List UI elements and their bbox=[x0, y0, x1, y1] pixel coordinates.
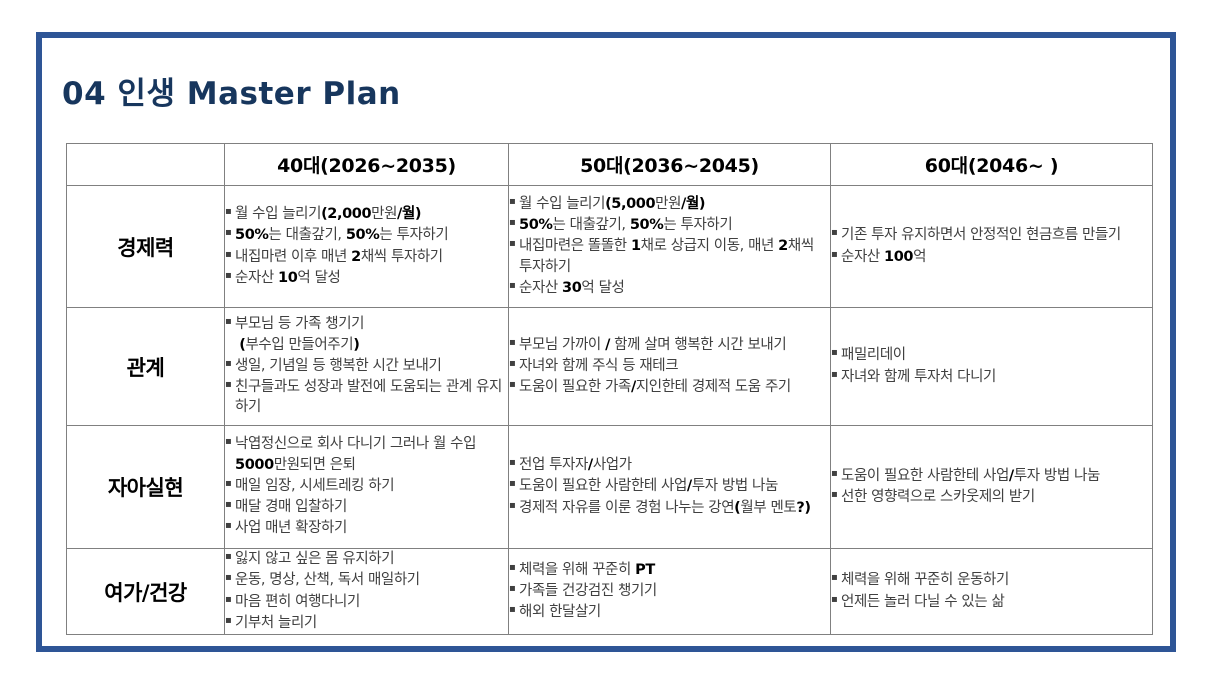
bullet-item: 50%는 대출갚기, 50%는 투자하기 bbox=[509, 215, 830, 235]
bullet-item: 기부처 늘리기 bbox=[225, 613, 508, 633]
bullet-item: 부모님 가까이 / 함께 살며 행복한 시간 보내기 bbox=[509, 335, 830, 355]
cell-self-realization-40s: 낙엽정신으로 회사 다니기 그러나 월 수입 5000만원되면 은퇴매일 임장,… bbox=[225, 426, 509, 549]
cell-self-realization-50s: 전업 투자자/사업가도움이 필요한 사람한테 사업/투자 방법 나눔경제적 자유… bbox=[509, 426, 831, 549]
header-corner-blank bbox=[67, 144, 225, 186]
row-label-relationship: 관계 bbox=[67, 308, 225, 426]
bullet-item: 도움이 필요한 가족/지인한테 경제적 도움 주기 bbox=[509, 377, 830, 397]
cell-economy-50s: 월 수입 늘리기(5,000만원/월) 50%는 대출갚기, 50%는 투자하기… bbox=[509, 186, 831, 308]
table-row: 관계 부모님 등 가족 챙기기 (부수입 만들어주기)생일, 기념일 등 행복한… bbox=[67, 308, 1153, 426]
table-row: 경제력 월 수입 늘리기(2,000만원/월)50%는 대출갚기, 50%는 투… bbox=[67, 186, 1153, 308]
bullet-item: 마음 편히 여행다니기 bbox=[225, 592, 508, 612]
bullet-list: 체력을 위해 꾸준히 PT가족들 건강검진 챙기기해외 한달살기 bbox=[509, 560, 830, 623]
bullet-item: 매달 경매 입찰하기 bbox=[225, 497, 508, 517]
bullet-item: 월 수입 늘리기(5,000만원/월) bbox=[509, 194, 830, 214]
life-master-plan-table: 40대(2026~2035) 50대(2036~2045) 60대(2046~ … bbox=[66, 143, 1153, 635]
cell-self-realization-60s: 도움이 필요한 사람한테 사업/투자 방법 나눔선한 영향력으로 스카웃제의 받… bbox=[831, 426, 1153, 549]
bullet-list: 체력을 위해 꾸준히 운동하기언제든 놀러 다닐 수 있는 삶 bbox=[831, 570, 1152, 612]
cell-relationship-60s: 패밀리데이자녀와 함께 투자처 다니기 bbox=[831, 308, 1153, 426]
bullet-item: 언제든 놀러 다닐 수 있는 삶 bbox=[831, 592, 1152, 612]
bullet-item: 해외 한달살기 bbox=[509, 602, 830, 622]
bullet-item: 선한 영향력으로 스카웃제의 받기 bbox=[831, 487, 1152, 507]
bullet-item: 도움이 필요한 사람한테 사업/투자 방법 나눔 bbox=[509, 476, 830, 496]
bullet-item: 순자산 30억 달성 bbox=[509, 278, 830, 298]
bullet-list: 부모님 가까이 / 함께 살며 행복한 시간 보내기자녀와 함께 주식 등 재테… bbox=[509, 335, 830, 398]
bullet-item: 가족들 건강검진 챙기기 bbox=[509, 581, 830, 601]
table-row: 자아실현 낙엽정신으로 회사 다니기 그러나 월 수입 5000만원되면 은퇴매… bbox=[67, 426, 1153, 549]
cell-economy-40s: 월 수입 늘리기(2,000만원/월)50%는 대출갚기, 50%는 투자하기내… bbox=[225, 186, 509, 308]
bullet-item: 자녀와 함께 주식 등 재테크 bbox=[509, 356, 830, 376]
bullet-item: 패밀리데이 bbox=[831, 345, 1152, 365]
bullet-item: 월 수입 늘리기(2,000만원/월) bbox=[225, 204, 508, 224]
bullet-item: 낙엽정신으로 회사 다니기 그러나 월 수입 5000만원되면 은퇴 bbox=[225, 434, 508, 475]
bullet-item: 경제적 자유를 이룬 경험 나누는 강연(월부 멘토?) bbox=[509, 498, 830, 518]
bullet-item: 친구들과도 성장과 발전에 도움되는 관계 유지하기 bbox=[225, 377, 508, 418]
bullet-list: 기존 투자 유지하면서 안정적인 현금흐름 만들기순자산 100억 bbox=[831, 225, 1152, 267]
cell-relationship-50s: 부모님 가까이 / 함께 살며 행복한 시간 보내기자녀와 함께 주식 등 재테… bbox=[509, 308, 831, 426]
page-title: 04 인생 Master Plan bbox=[62, 68, 401, 113]
bullet-item: 순자산 10억 달성 bbox=[225, 268, 508, 288]
bullet-item: 매일 임장, 시세트레킹 하기 bbox=[225, 476, 508, 496]
bullet-item: 부모님 등 가족 챙기기 (부수입 만들어주기) bbox=[225, 314, 508, 355]
table-body: 경제력 월 수입 늘리기(2,000만원/월)50%는 대출갚기, 50%는 투… bbox=[67, 186, 1153, 635]
bullet-list: 부모님 등 가족 챙기기 (부수입 만들어주기)생일, 기념일 등 행복한 시간… bbox=[225, 314, 508, 417]
cell-relationship-40s: 부모님 등 가족 챙기기 (부수입 만들어주기)생일, 기념일 등 행복한 시간… bbox=[225, 308, 509, 426]
row-label-self-realization: 자아실현 bbox=[67, 426, 225, 549]
table-header-row: 40대(2026~2035) 50대(2036~2045) 60대(2046~ … bbox=[67, 144, 1153, 186]
row-label-economy: 경제력 bbox=[67, 186, 225, 308]
bullet-item: 내집마련 이후 매년 2채씩 투자하기 bbox=[225, 247, 508, 267]
cell-economy-60s: 기존 투자 유지하면서 안정적인 현금흐름 만들기순자산 100억 bbox=[831, 186, 1153, 308]
bullet-item: 운동, 명상, 산책, 독서 매일하기 bbox=[225, 570, 508, 590]
header-age-50s: 50대(2036~2045) bbox=[509, 144, 831, 186]
bullet-item: 내집마련은 똘똘한 1채로 상급지 이동, 매년 2채씩 투자하기 bbox=[509, 236, 830, 277]
cell-leisure-health-50s: 체력을 위해 꾸준히 PT가족들 건강검진 챙기기해외 한달살기 bbox=[509, 549, 831, 635]
cell-leisure-health-60s: 체력을 위해 꾸준히 운동하기언제든 놀러 다닐 수 있는 삶 bbox=[831, 549, 1153, 635]
bullet-item: 50%는 대출갚기, 50%는 투자하기 bbox=[225, 225, 508, 245]
bullet-item: 체력을 위해 꾸준히 PT bbox=[509, 560, 830, 580]
header-age-40s: 40대(2026~2035) bbox=[225, 144, 509, 186]
bullet-list: 패밀리데이자녀와 함께 투자처 다니기 bbox=[831, 345, 1152, 387]
bullet-item: 기존 투자 유지하면서 안정적인 현금흐름 만들기 bbox=[831, 225, 1152, 245]
table-row: 여가/건강 잃지 않고 싶은 몸 유지하기운동, 명상, 산책, 독서 매일하기… bbox=[67, 549, 1153, 635]
bullet-item: 생일, 기념일 등 행복한 시간 보내기 bbox=[225, 356, 508, 376]
bullet-item: 잃지 않고 싶은 몸 유지하기 bbox=[225, 549, 508, 569]
cell-leisure-health-40s: 잃지 않고 싶은 몸 유지하기운동, 명상, 산책, 독서 매일하기마음 편히 … bbox=[225, 549, 509, 635]
bullet-list: 전업 투자자/사업가도움이 필요한 사람한테 사업/투자 방법 나눔경제적 자유… bbox=[509, 455, 830, 518]
bullet-list: 낙엽정신으로 회사 다니기 그러나 월 수입 5000만원되면 은퇴매일 임장,… bbox=[225, 434, 508, 538]
bullet-list: 도움이 필요한 사람한테 사업/투자 방법 나눔선한 영향력으로 스카웃제의 받… bbox=[831, 466, 1152, 508]
bullet-item: 체력을 위해 꾸준히 운동하기 bbox=[831, 570, 1152, 590]
bullet-item: 순자산 100억 bbox=[831, 247, 1152, 267]
bullet-item: 도움이 필요한 사람한테 사업/투자 방법 나눔 bbox=[831, 466, 1152, 486]
header-age-60s: 60대(2046~ ) bbox=[831, 144, 1153, 186]
row-label-leisure-health: 여가/건강 bbox=[67, 549, 225, 635]
table-header: 40대(2026~2035) 50대(2036~2045) 60대(2046~ … bbox=[67, 144, 1153, 186]
bullet-item: 자녀와 함께 투자처 다니기 bbox=[831, 367, 1152, 387]
bullet-item: 전업 투자자/사업가 bbox=[509, 455, 830, 475]
bullet-list: 월 수입 늘리기(2,000만원/월)50%는 대출갚기, 50%는 투자하기내… bbox=[225, 204, 508, 288]
slide: 04 인생 Master Plan 40대(2026~2035) 50대(203… bbox=[0, 0, 1216, 684]
bullet-list: 월 수입 늘리기(5,000만원/월) 50%는 대출갚기, 50%는 투자하기… bbox=[509, 194, 830, 298]
bullet-list: 잃지 않고 싶은 몸 유지하기운동, 명상, 산책, 독서 매일하기마음 편히 … bbox=[225, 549, 508, 633]
bullet-item: 사업 매년 확장하기 bbox=[225, 518, 508, 538]
